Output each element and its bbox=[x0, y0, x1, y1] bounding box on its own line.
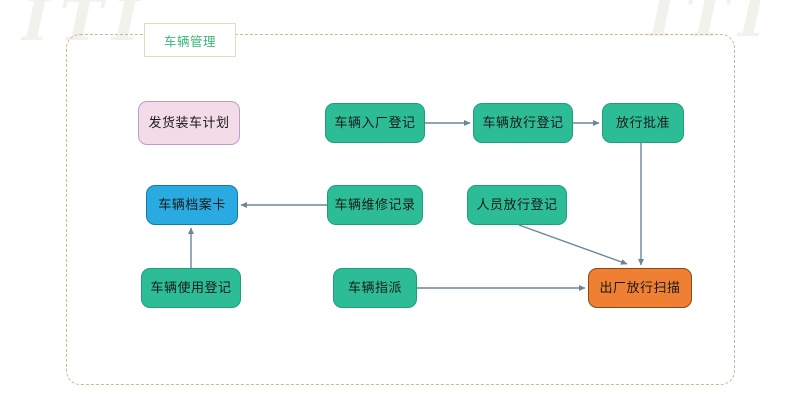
node-label: 车辆档案卡 bbox=[158, 199, 226, 212]
node-fahuo-zhuangche-jihua[interactable]: 发货装车计划 bbox=[138, 101, 240, 145]
node-label: 车辆入厂登记 bbox=[334, 117, 415, 130]
node-label: 车辆使用登记 bbox=[150, 282, 231, 295]
node-cheliang-danganka[interactable]: 车辆档案卡 bbox=[146, 185, 238, 225]
node-chuchang-fangxing-saomiao[interactable]: 出厂放行扫描 bbox=[588, 268, 692, 308]
node-cheliang-shiyong-dengji[interactable]: 车辆使用登记 bbox=[141, 268, 241, 308]
node-label: 出厂放行扫描 bbox=[599, 282, 680, 295]
node-label: 发货装车计划 bbox=[148, 117, 229, 130]
page-title: 车辆管理 bbox=[164, 31, 216, 50]
node-cheliang-fangxing-dengji[interactable]: 车辆放行登记 bbox=[473, 103, 573, 143]
node-renyuan-fangxing-dengji[interactable]: 人员放行登记 bbox=[467, 185, 567, 225]
node-cheliang-weixiu-jilu[interactable]: 车辆维修记录 bbox=[327, 185, 423, 225]
diagram-title-box: 车辆管理 bbox=[144, 23, 236, 57]
node-label: 放行批准 bbox=[616, 117, 670, 130]
node-label: 车辆指派 bbox=[348, 282, 402, 295]
node-label: 人员放行登记 bbox=[476, 199, 557, 212]
node-label: 车辆放行登记 bbox=[482, 117, 563, 130]
node-fangxing-pizhun[interactable]: 放行批准 bbox=[602, 103, 684, 143]
node-cheliang-ruchang-dengji[interactable]: 车辆入厂登记 bbox=[325, 103, 425, 143]
node-cheliang-zhipai[interactable]: 车辆指派 bbox=[333, 268, 417, 308]
node-label: 车辆维修记录 bbox=[334, 199, 415, 212]
